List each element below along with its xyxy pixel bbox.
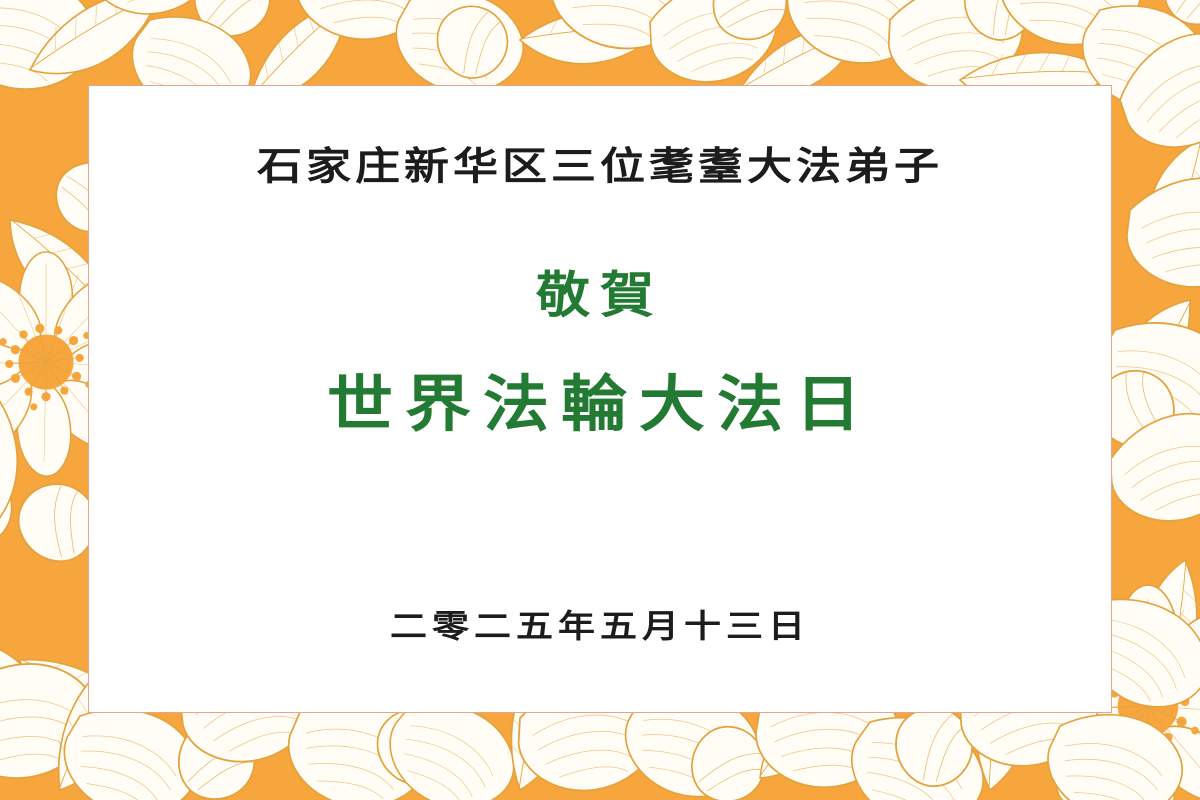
greeting-panel: 石家庄新华区三位耄耋大法弟子 敬賀 世界法輪大法日 二零二五年五月十三日 — [88, 85, 1112, 713]
occasion-title: 世界法輪大法日 — [89, 355, 1111, 443]
salutation-line: 敬賀 — [89, 254, 1111, 327]
date-line: 二零二五年五月十三日 — [89, 600, 1111, 646]
greeting-card: 石家庄新华区三位耄耋大法弟子 敬賀 世界法輪大法日 二零二五年五月十三日 — [0, 0, 1200, 800]
sender-line: 石家庄新华区三位耄耋大法弟子 — [89, 135, 1111, 191]
